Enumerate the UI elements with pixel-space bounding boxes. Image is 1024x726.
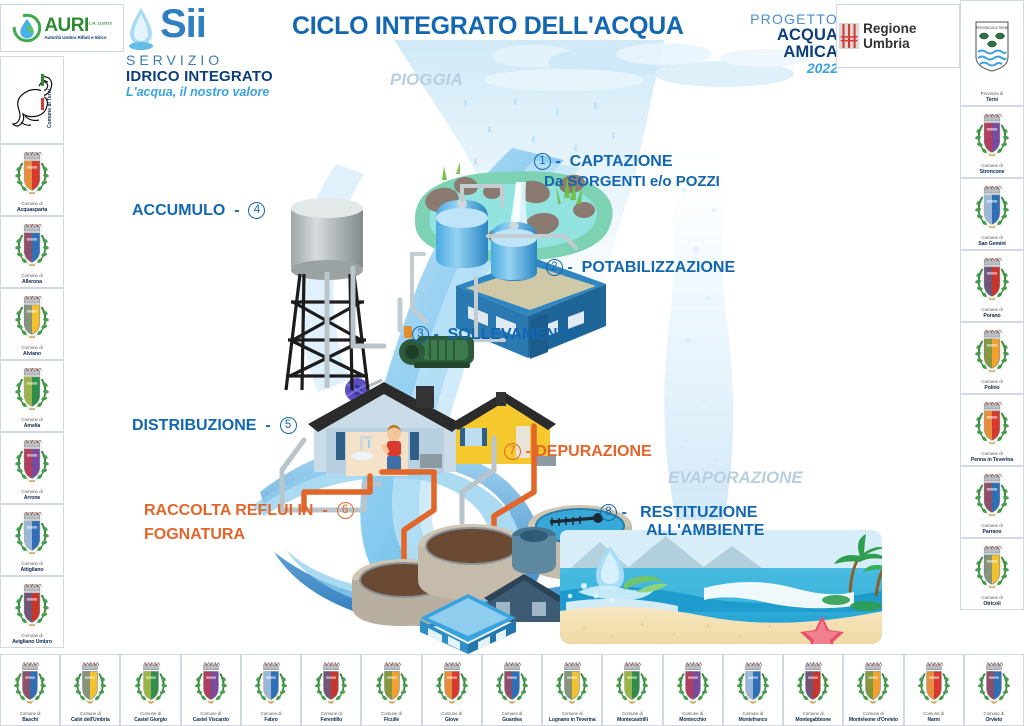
shield [444, 672, 459, 700]
step-number-5: 5 [280, 417, 297, 434]
crown-icon [806, 663, 823, 670]
crest-alviano [1, 289, 63, 345]
sidebar-left-municipalities: Comune di Terni [0, 0, 64, 726]
bottom-item-baschi[interactable]: Comune diBaschi [0, 654, 60, 726]
bottom-item-fabro[interactable]: Comune diFabro [241, 654, 301, 726]
sii-wordmark: Sii [160, 6, 206, 42]
crest-orvieto [965, 655, 1023, 711]
step-sublabel-8: ALL'AMBIENTE [646, 522, 764, 540]
crown-icon [24, 512, 41, 519]
sidebar-item-otricoli[interactable]: Comune diOtricoli [960, 538, 1024, 610]
crest-municipality-name: Fabro [242, 717, 300, 723]
shield [745, 672, 760, 700]
bottom-item-calvi-dell-umbria[interactable]: Comune diCalvi dell'Umbria [60, 654, 120, 726]
shield [324, 672, 339, 700]
project-block: PROGETTO ACQUA AMICA 2022 [720, 12, 838, 76]
crown-icon [24, 224, 41, 231]
crown-icon [745, 663, 762, 670]
crest-ficulle [362, 655, 420, 711]
crest-caption: Comune diMonteleone d'Orvieto [844, 711, 902, 723]
shield [984, 339, 1000, 369]
step-number-3: 3 [412, 326, 429, 343]
crest-avigliano-umbro [1, 577, 63, 633]
crest-ferentillo [302, 655, 360, 711]
step-label-8: RESTITUZIONE [640, 504, 757, 521]
crown-icon [926, 663, 943, 670]
step-number-8: 8 [600, 504, 617, 521]
step-label-2: POTABILIZZAZIONE [582, 259, 735, 276]
bottom-item-narni[interactable]: Comune diNarni [904, 654, 964, 726]
crest-caption: Comune diPenna in Teverina [961, 451, 1023, 463]
crest-monteleone-d-orvieto [844, 655, 902, 711]
step-accumulo: ACCUMULO - 4 [132, 202, 265, 220]
bottom-item-guardea[interactable]: Comune diGuardea [482, 654, 542, 726]
crest-san-gemini [961, 179, 1023, 235]
terni-dragon-crest: Comune di Terni [1, 57, 63, 141]
beach-sea-panel [554, 530, 909, 654]
step-restituzione: 8 - RESTITUZIONE ALL'AMBIENTE [600, 504, 764, 541]
crest-caption: Comune diFiculle [362, 711, 420, 723]
svg-text:Comune di Terni: Comune di Terni [47, 88, 53, 128]
step-sep-3: - [433, 326, 438, 343]
crest-caption: Comune diCastel Viscardo [182, 711, 240, 723]
water-cycle-svg [64, 40, 960, 654]
crest-caption: Comune diGuardea [483, 711, 541, 723]
bottom-item-monteleone-d-orvieto[interactable]: Comune diMonteleone d'Orvieto [843, 654, 903, 726]
shield [24, 449, 40, 479]
crown-icon [984, 402, 1001, 409]
crest-caption: Comune diAvigliano Umbro [1, 633, 63, 645]
sii-line-servizio: SERVIZIO [126, 52, 346, 68]
crest-caption: Comune diNarni [905, 711, 963, 723]
crest-montefranco [724, 655, 782, 711]
step-label-6: RACCOLTA REFLUI IN [144, 502, 313, 519]
sidebar-item-amelia[interactable]: Comune diAmelia [0, 360, 64, 432]
crest-municipality-name: Narni [905, 717, 963, 723]
regione-umbria-label: Regione Umbria [863, 21, 959, 51]
shield [866, 672, 881, 700]
crest-porano [961, 251, 1023, 307]
crest-municipality-name: Porano [961, 313, 1023, 320]
crest-caption: Comune diAllerona [1, 273, 63, 285]
water-droplet-icon [126, 6, 156, 52]
crest-caption: Comune diMontegabbione [784, 711, 842, 723]
provincia-di-terni-crest: PROVINCIA DI TERNI [961, 1, 1023, 91]
crest-municipality-name: Avigliano Umbro [1, 639, 63, 646]
crest-municipality-name: Montegabbione [784, 717, 842, 723]
shield [83, 672, 98, 700]
crown-icon [203, 663, 220, 670]
crown-icon [444, 663, 461, 670]
regione-umbria-box: Regione Umbria [836, 4, 960, 68]
crest-caption: Comune diPorano [961, 307, 1023, 319]
step-number-6: 6 [337, 502, 354, 519]
crown-icon [24, 584, 41, 591]
crest-municipality-name: Attigliano [1, 567, 63, 574]
shield [24, 305, 40, 335]
crown-icon [625, 663, 642, 670]
crest-acquasparta [1, 145, 63, 201]
project-kicker: PROGETTO [720, 12, 838, 27]
crest-caption: Comune diPolino [961, 379, 1023, 391]
sidebar-item-san-gemini[interactable]: Comune diSan Gemini [960, 178, 1024, 250]
step-number-1: 1 [534, 153, 551, 170]
sidebar-item-terni[interactable]: PROVINCIA DI TERNI Provincia diTerni [960, 0, 1024, 106]
bottom-item-ferentillo[interactable]: Comune diFerentillo [301, 654, 361, 726]
crest-municipality-name: Terni [961, 97, 1023, 104]
sidebar-item-terni[interactable]: Comune di Terni [0, 56, 64, 144]
crown-icon [143, 663, 160, 670]
crest-municipality-name: Parrano [961, 529, 1023, 536]
crest-municipality-name: Castel Giorgio [121, 717, 179, 723]
crest-caption: Comune diParrano [961, 523, 1023, 535]
crown-icon [83, 663, 100, 670]
crest-municipality-name: San Gemini [961, 241, 1023, 248]
step-sublabel-1: Da SORGENTI e/o POZZI [544, 173, 720, 190]
crest-municipality-name: Giove [423, 717, 481, 723]
crest-municipality-name: Arrone [1, 495, 63, 502]
step-sublabel-6: FOGNATURA [144, 526, 354, 544]
crest-calvi-dell-umbria [61, 655, 119, 711]
crest-caption: Comune diAmelia [1, 417, 63, 429]
crest-montecchio [664, 655, 722, 711]
step-sep-8: - [621, 504, 626, 521]
crest-municipality-name: Acquasparta [1, 207, 63, 214]
svg-text:PROVINCIA DI TERNI: PROVINCIA DI TERNI [976, 26, 1008, 30]
crest-municipality-name: Montefranco [724, 717, 782, 723]
bottom-item-montefranco[interactable]: Comune diMontefranco [723, 654, 783, 726]
sidebar-item-attigliano[interactable]: Comune diAttigliano [0, 504, 64, 576]
bottom-item-giove[interactable]: Comune diGiove [422, 654, 482, 726]
step-potabilizzazione: 2 - POTABILIZZAZIONE [546, 259, 735, 277]
sidebar-right-municipalities: PROVINCIA DI TERNI Provincia diTerni [960, 0, 1024, 726]
crest-caption: Comune diBaschi [1, 711, 59, 723]
step-captazione: 1 - CAPTAZIONE Da SORGENTI e/o POZZI [534, 153, 720, 190]
step-sep-4: - [234, 202, 239, 219]
step-label-7: DEPURAZIONE [535, 443, 651, 460]
crest-municipality-name: Amelia [1, 423, 63, 430]
project-name: ACQUA AMICA [720, 27, 838, 62]
crest-allerona [1, 217, 63, 273]
crest-polino [961, 323, 1023, 379]
crown-icon [24, 152, 41, 159]
page-title: CICLO INTEGRATO DELL'ACQUA [292, 12, 722, 41]
sidebar-item-stroncone[interactable]: Comune diStroncone [960, 106, 1024, 178]
crest-penna-in-teverina [961, 395, 1023, 451]
crest-caption: Comune diSan Gemini [961, 235, 1023, 247]
crest-narni [905, 655, 963, 711]
sidebar-item-parrano[interactable]: Comune diParrano [960, 466, 1024, 538]
crest-castel-viscardo [182, 655, 240, 711]
crown-icon [384, 663, 401, 670]
step-sep-6: - [322, 502, 327, 519]
bottom-item-montecastrilli[interactable]: Comune diMontecastrilli [602, 654, 662, 726]
step-sollevamento: 3 - SOLLEVAMENTO [412, 326, 580, 344]
crest-caption: Comune diGiove [423, 711, 481, 723]
crest-municipality-name: Otricoli [961, 601, 1023, 608]
sidebar-item-penna-in-teverina[interactable]: Comune diPenna in Teverina [960, 394, 1024, 466]
crest-baschi [1, 655, 59, 711]
auri-law-ref: L.R. 11/2013 [89, 20, 112, 25]
crest-caption: Comune diCalvi dell'Umbria [61, 711, 119, 723]
step-label-1: CAPTAZIONE [570, 153, 673, 170]
crest-municipality-name: Castel Viscardo [182, 717, 240, 723]
crown-icon [984, 186, 1001, 193]
crest-municipality-name: Baschi [1, 717, 59, 723]
shield [384, 672, 399, 700]
shield [806, 672, 821, 700]
shield [984, 123, 1000, 153]
shield [24, 161, 40, 191]
crown-icon [866, 663, 883, 670]
crest-otricoli [961, 539, 1023, 595]
crest-municipality-name: Penna in Teverina [961, 457, 1023, 464]
shield [984, 411, 1000, 441]
regione-umbria-logo [837, 20, 861, 52]
sidebar-item-alviano[interactable]: Comune diAlviano [0, 288, 64, 360]
crown-icon [24, 440, 41, 447]
crest-caption: Comune diMontefranco [724, 711, 782, 723]
crest-municipality-name: Guardea [483, 717, 541, 723]
shield [984, 483, 1000, 513]
shield [984, 267, 1000, 297]
crest-municipality-name: Alviano [1, 351, 63, 358]
step-sep-1: - [555, 153, 560, 170]
shield [984, 555, 1000, 585]
crest-parrano [961, 467, 1023, 523]
shield [24, 521, 40, 551]
crown-icon [986, 663, 1003, 670]
shield [984, 195, 1000, 225]
shield [625, 672, 640, 700]
bottom-item-castel-giorgio[interactable]: Comune diCastel Giorgio [120, 654, 180, 726]
crest-stroncone [961, 107, 1023, 163]
step-number-4: 4 [248, 202, 265, 219]
crown-icon [984, 546, 1001, 553]
shield [24, 377, 40, 407]
crest-municipality-name: Montecchio [664, 717, 722, 723]
shield [24, 593, 40, 623]
crest-caption: Comune diFabro [242, 711, 300, 723]
crest-caption: Comune diAcquasparta [1, 201, 63, 213]
step-sep-5: - [265, 417, 270, 434]
crest-municipality-name: Stroncone [961, 169, 1023, 176]
crown-icon [23, 663, 40, 670]
step-raccolta-reflui: RACCOLTA REFLUI IN - 6 FOGNATURA [144, 502, 354, 544]
crest-caption: Comune diStroncone [961, 163, 1023, 175]
crest-municipality-name: Calvi dell'Umbria [61, 717, 119, 723]
crown-icon [685, 663, 702, 670]
crest-municipality-name: Orvieto [965, 717, 1023, 723]
shield [264, 672, 279, 700]
crest-lugnano-in-teverina [543, 655, 601, 711]
crest-caption: Comune diAttigliano [1, 561, 63, 573]
crest-caption: Comune diOrvieto [965, 711, 1023, 723]
crest-caption: Comune diArrone [1, 489, 63, 501]
crown-icon [984, 330, 1001, 337]
crown-icon [984, 114, 1001, 121]
sii-tagline: L'acqua, il nostro valore [126, 85, 346, 99]
crest-municipality-name: Polino [961, 385, 1023, 392]
sidebar-item-allerona[interactable]: Comune diAllerona [0, 216, 64, 288]
crest-caption: Comune diFerentillo [302, 711, 360, 723]
step-sep-7: - [525, 443, 530, 460]
crest-caption: Comune diAlviano [1, 345, 63, 357]
sidebar-item-arrone[interactable]: Comune diArrone [0, 432, 64, 504]
crest-caption: Comune diMontecchio [664, 711, 722, 723]
bottom-item-orvieto[interactable]: Comune diOrvieto [964, 654, 1024, 726]
crest-caption: Comune diMontecastrilli [603, 711, 661, 723]
crest-municipality-name: Allerona [1, 279, 63, 286]
crest-municipality-name: Monteleone d'Orvieto [844, 717, 902, 723]
step-label-3: SOLLEVAMENTO [448, 326, 580, 343]
crest-caption: Comune diOtricoli [961, 595, 1023, 607]
crest-giove [423, 655, 481, 711]
houses-scene [308, 382, 556, 476]
step-sep-2: - [567, 259, 572, 276]
bottom-item-lugnano-in-teverina[interactable]: Comune diLugnano in Teverina [542, 654, 602, 726]
step-number-7: 7 [504, 443, 521, 460]
crown-icon [984, 258, 1001, 265]
crown-icon [264, 663, 281, 670]
shield [685, 672, 700, 700]
crest-amelia [1, 361, 63, 417]
crest-montegabbione [784, 655, 842, 711]
shield [203, 672, 218, 700]
step-label-5: DISTRIBUZIONE [132, 417, 256, 434]
small-cylinder [512, 527, 556, 574]
crest-municipality-name: Montecastrilli [603, 717, 661, 723]
crest-attigliano [1, 505, 63, 561]
crest-guardea [483, 655, 541, 711]
shield [505, 672, 520, 700]
crest-castel-giorgio [121, 655, 179, 711]
shield [926, 672, 941, 700]
crest-fabro [242, 655, 300, 711]
step-label-4: ACCUMULO [132, 202, 225, 219]
bottom-item-montecchio[interactable]: Comune diMontecchio [663, 654, 723, 726]
bottom-item-castel-viscardo[interactable]: Comune diCastel Viscardo [181, 654, 241, 726]
crest-caption: Provincia diTerni [961, 91, 1023, 103]
crest-caption: Comune diLugnano in Teverina [543, 711, 601, 723]
crown-icon [324, 663, 341, 670]
shield [565, 672, 580, 700]
crown-icon [984, 474, 1001, 481]
shield [24, 233, 40, 263]
sidebar-item-polino[interactable]: Comune diPolino [960, 322, 1024, 394]
crest-municipality-name: Lugnano in Teverina [543, 717, 601, 723]
crest-municipality-name: Ferentillo [302, 717, 360, 723]
sidebar-item-porano[interactable]: Comune diPorano [960, 250, 1024, 322]
poster-header: AURIL.R. 11/2013 Autorità Umbra Rifiuti … [64, 0, 960, 96]
bottom-municipalities-row: Comune diBaschi Com [0, 654, 1024, 726]
water-cycle-illustration: PIOGGIA EVAPORAZIONE 1 - CAPTAZIONE Da S… [64, 40, 960, 654]
sidebar-item-avigliano-umbro[interactable]: Comune diAvigliano Umbro [0, 576, 64, 648]
crown-icon [24, 368, 41, 375]
crest-municipality-name: Ficulle [362, 717, 420, 723]
shield [23, 672, 38, 700]
step-number-2: 2 [546, 259, 563, 276]
evaporazione-label: EVAPORAZIONE [668, 468, 803, 488]
shield [986, 672, 1001, 700]
shield [143, 672, 158, 700]
crown-icon [24, 296, 41, 303]
crown-icon [505, 663, 522, 670]
sidebar-item-acquasparta[interactable]: Comune diAcquasparta [0, 144, 64, 216]
bottom-item-montegabbione[interactable]: Comune diMontegabbione [783, 654, 843, 726]
crest-caption: Comune diCastel Giorgio [121, 711, 179, 723]
step-depurazione: 7 - DEPURAZIONE [504, 443, 652, 461]
step-distribuzione: DISTRIBUZIONE - 5 [132, 417, 297, 435]
crest-montecastrilli [603, 655, 661, 711]
project-year: 2022 [720, 61, 838, 76]
poster-canvas: PIOGGIA EVAPORAZIONE 1 - CAPTAZIONE Da S… [0, 0, 1024, 726]
crest-arrone [1, 433, 63, 489]
bottom-item-ficulle[interactable]: Comune diFiculle [361, 654, 421, 726]
sii-line-idrico-integrato: IDRICO INTEGRATO [126, 68, 346, 85]
crown-icon [565, 663, 582, 670]
